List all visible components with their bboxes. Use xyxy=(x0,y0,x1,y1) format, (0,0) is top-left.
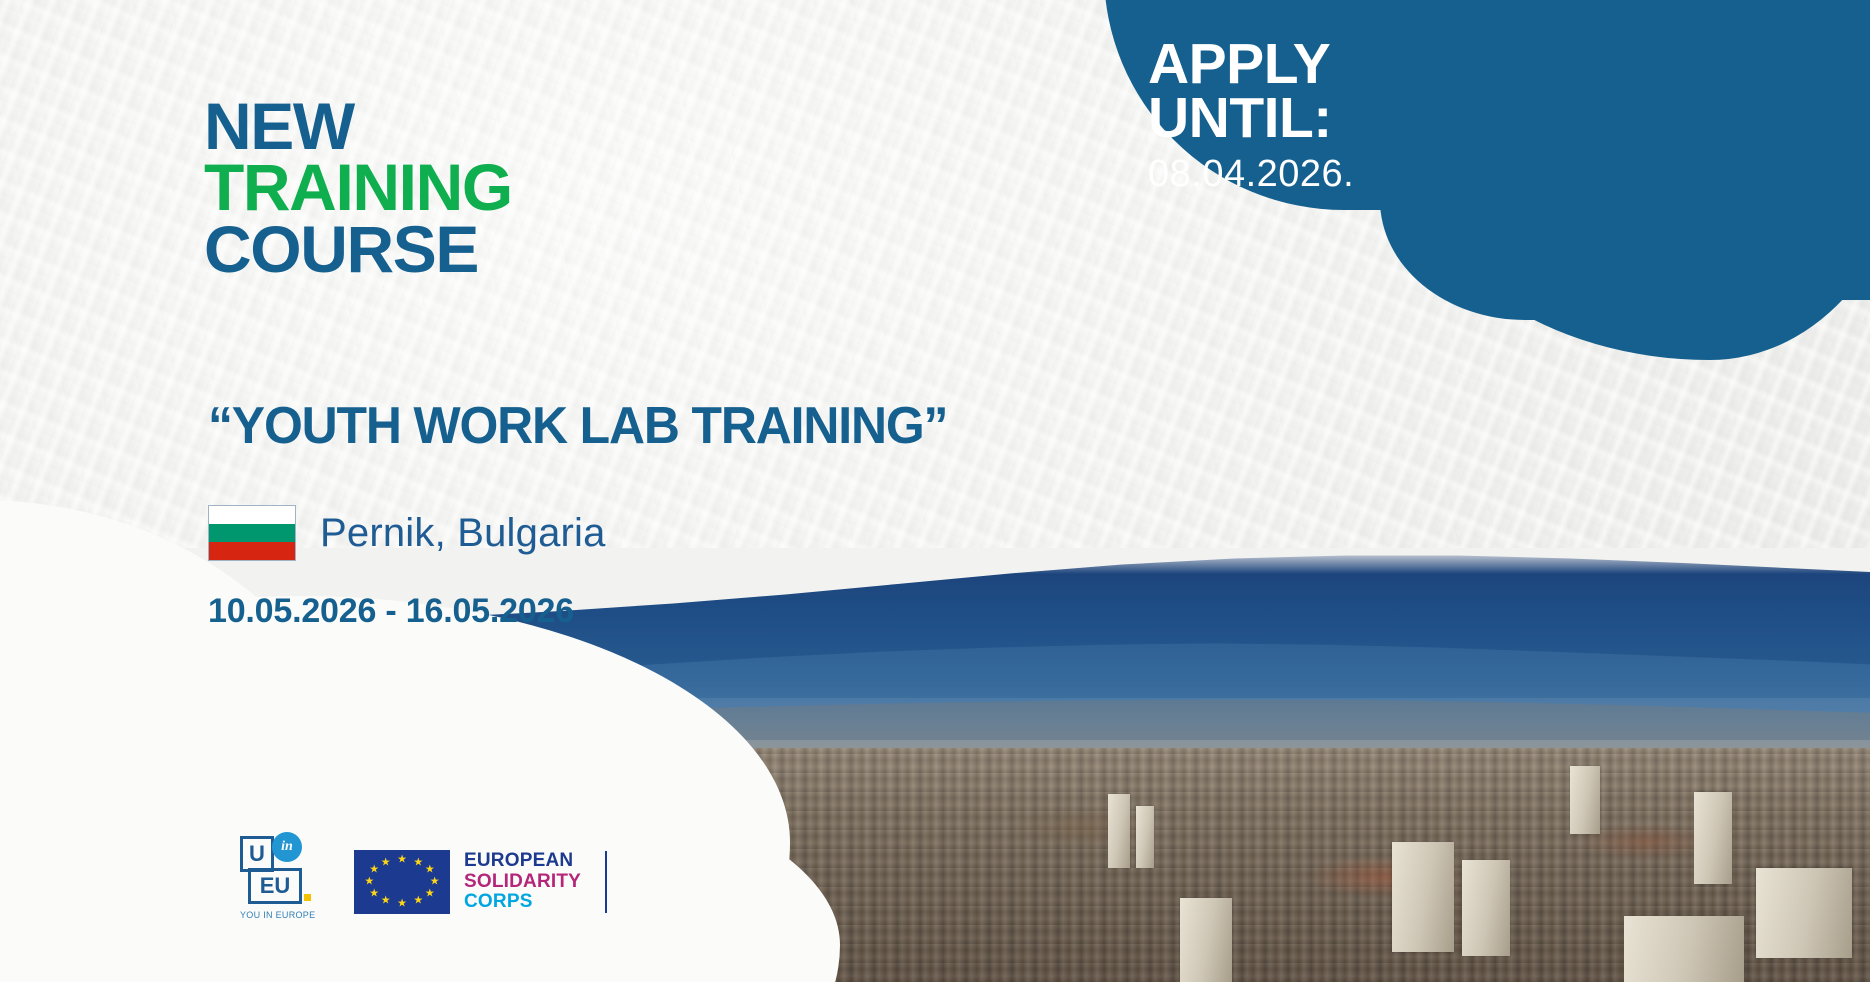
eu-star: ★ xyxy=(430,877,440,888)
esc-line-european: EUROPEAN xyxy=(464,851,581,872)
headline-line-new: NEW xyxy=(204,96,512,157)
eu-star: ★ xyxy=(381,896,391,907)
tower-block xyxy=(1462,860,1510,956)
location-label: Pernik, Bulgaria xyxy=(320,511,606,556)
eu-star: ★ xyxy=(413,857,423,868)
tower-block xyxy=(1624,916,1744,982)
tower-block xyxy=(1694,792,1732,884)
eu-star: ★ xyxy=(364,877,374,888)
esc-line-corps: CORPS xyxy=(464,892,581,913)
logo-circle-in: in xyxy=(272,832,302,862)
flag-stripe-red xyxy=(209,542,295,560)
european-solidarity-corps-logo: ★ ★ ★ ★ ★ ★ ★ ★ ★ ★ ★ ★ EUROPEAN SOLIDAR… xyxy=(354,850,607,914)
bulgaria-flag-icon xyxy=(208,505,296,561)
logo-box-eu: EU xyxy=(248,868,302,904)
location-row: Pernik, Bulgaria xyxy=(208,505,606,561)
headline-line-training: TRAINING xyxy=(204,157,512,218)
eu-star: ★ xyxy=(397,898,407,909)
eu-star: ★ xyxy=(413,896,423,907)
flag-stripe-green xyxy=(209,524,295,542)
tower-block xyxy=(1756,868,1852,958)
you-in-europe-marks: U EU in xyxy=(240,836,306,906)
logo-accent-dot xyxy=(304,894,311,901)
tower-block xyxy=(1108,794,1130,868)
eu-star: ★ xyxy=(369,888,379,899)
apply-label-line2: UNTIL: xyxy=(1148,92,1354,146)
headline-line-course: COURSE xyxy=(204,219,512,280)
course-dates: 10.05.2026 - 16.05.2026 xyxy=(208,592,574,631)
you-in-europe-caption: YOU IN EUROPE xyxy=(240,910,315,920)
eu-star: ★ xyxy=(425,888,435,899)
eu-star: ★ xyxy=(425,865,435,876)
headline-group: NEW TRAINING COURSE xyxy=(204,96,512,280)
esc-wordmark: EUROPEAN SOLIDARITY CORPS xyxy=(464,851,581,913)
logo-box-u: U xyxy=(240,836,274,872)
promotional-poster: APPLY UNTIL: 08.04.2026. NEW TRAINING CO… xyxy=(0,0,1870,982)
eu-flag-icon: ★ ★ ★ ★ ★ ★ ★ ★ ★ ★ ★ ★ xyxy=(354,850,450,914)
blue-decorative-shape xyxy=(1690,0,1870,300)
eu-star: ★ xyxy=(369,865,379,876)
tower-block xyxy=(1136,806,1154,868)
course-title: “YOUTH WORK LAB TRAINING” xyxy=(208,396,947,456)
logo-row: U EU in YOU IN EUROPE ★ ★ ★ ★ ★ ★ ★ ★ ★ … xyxy=(240,836,607,928)
tower-block xyxy=(1570,766,1600,834)
esc-line-solidarity: SOLIDARITY xyxy=(464,872,581,893)
apply-until-text-group: APPLY UNTIL: 08.04.2026. xyxy=(1148,38,1354,196)
flag-stripe-white xyxy=(209,506,295,524)
you-in-europe-logo: U EU in YOU IN EUROPE xyxy=(240,836,318,928)
apply-deadline-date: 08.04.2026. xyxy=(1148,153,1354,196)
eu-star: ★ xyxy=(397,855,407,866)
tower-block xyxy=(1180,898,1232,982)
eu-star: ★ xyxy=(381,857,391,868)
esc-divider xyxy=(605,851,607,913)
tower-block xyxy=(1392,842,1454,952)
apply-label-line1: APPLY xyxy=(1148,38,1354,92)
